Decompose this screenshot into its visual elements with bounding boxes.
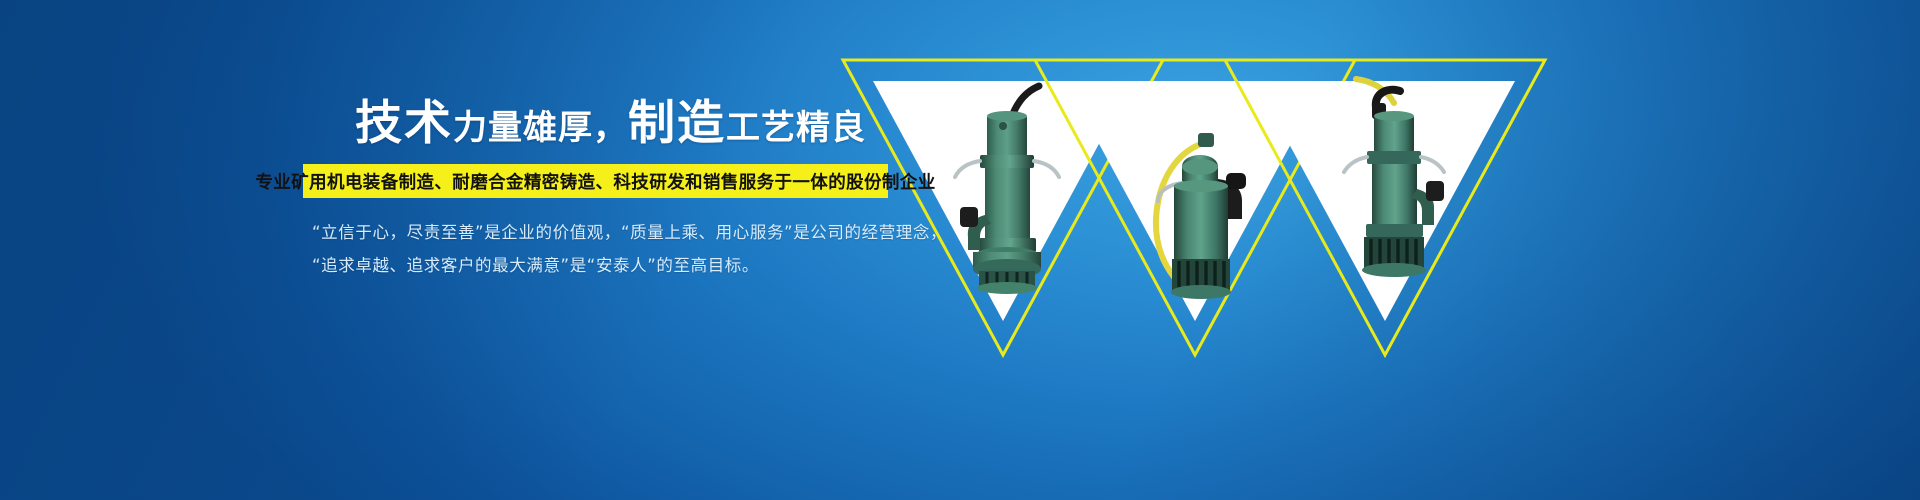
headline-segment-4: 工艺精良 [726,108,866,148]
triangle-right [1220,55,1550,365]
headline-segment-3: 制造 [628,96,726,151]
product-triangle-group [920,0,1920,500]
headline: 技术力量雄厚，制造工艺精良 [355,100,866,147]
headline-segment-2: 力量雄厚， [453,108,628,148]
headline-segment-1: 技术 [355,96,453,151]
paragraph-line-1: “立信于心，尽责至善”是企业的价值观，“质量上乘、用心服务”是公司的经营理念， [312,219,947,243]
highlight-bar: 专业矿用机电装备制造、耐磨合金精密铸造、科技研发和销售服务于一体的股份制企业 [303,164,888,198]
product-photo-pump-3 [1330,77,1460,292]
paragraph-line-2: “追求卓越、追求客户的最大满意”是“安泰人”的至高目标。 [312,252,759,276]
banner-text-block: 技术力量雄厚，制造工艺精良 专业矿用机电装备制造、耐磨合金精密铸造、科技研发和销… [0,0,930,500]
promo-banner: 技术力量雄厚，制造工艺精良 专业矿用机电装备制造、耐磨合金精密铸造、科技研发和销… [0,0,1920,500]
highlight-bar-text: 专业矿用机电装备制造、耐磨合金精密铸造、科技研发和销售服务于一体的股份制企业 [255,169,935,194]
